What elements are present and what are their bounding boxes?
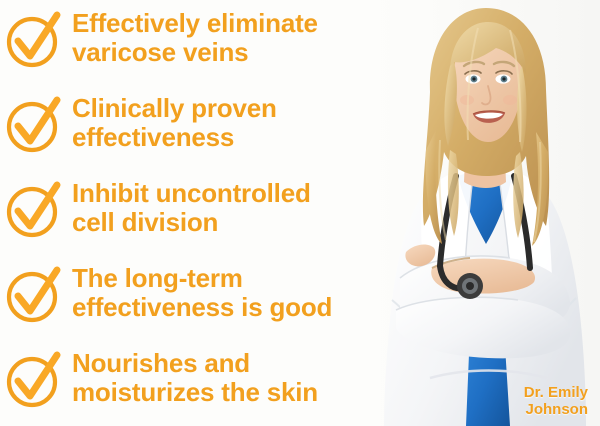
benefits-list: Effectively eliminate varicose veins Cli… xyxy=(0,0,470,426)
circled-checkmark-icon xyxy=(4,95,64,155)
circled-checkmark-icon xyxy=(4,10,64,70)
benefit-label: Effectively eliminate varicose veins xyxy=(72,6,470,67)
benefit-item: Inhibit uncontrolled cell division xyxy=(0,176,470,261)
circled-checkmark-icon xyxy=(4,350,64,410)
circled-checkmark-icon xyxy=(4,265,64,325)
circled-checkmark-icon xyxy=(4,180,64,240)
benefit-item: Clinically proven effectiveness xyxy=(0,91,470,176)
benefit-label: The long-term effectiveness is good xyxy=(72,261,470,322)
promotional-banner: Effectively eliminate varicose veins Cli… xyxy=(0,0,600,426)
benefit-item: Nourishes and moisturizes the skin xyxy=(0,346,470,426)
benefit-label: Nourishes and moisturizes the skin xyxy=(72,346,470,407)
benefit-label: Clinically proven effectiveness xyxy=(72,91,470,152)
doctor-name-caption: Dr. Emily Johnson xyxy=(470,384,588,418)
benefit-item: The long-term effectiveness is good xyxy=(0,261,470,346)
benefit-label: Inhibit uncontrolled cell division xyxy=(72,176,470,237)
benefit-item: Effectively eliminate varicose veins xyxy=(0,6,470,91)
